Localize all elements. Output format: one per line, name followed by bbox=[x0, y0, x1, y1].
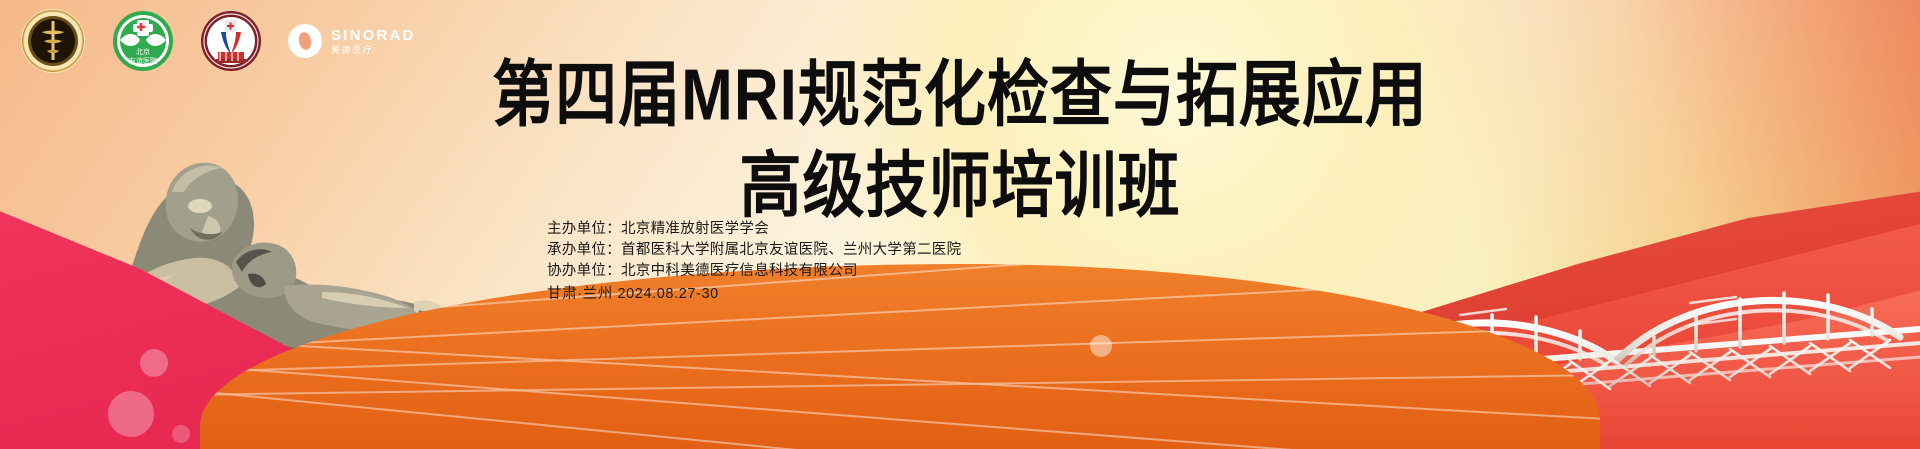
sinorad-brand-cn: 美德医疗 bbox=[331, 46, 416, 55]
decor-dot bbox=[140, 349, 168, 377]
lanzhou-university-second-hospital-logo bbox=[200, 10, 262, 72]
organizer-undertaker: 承办单位：首都医科大学附属北京友谊医院、兰州大学第二医院 bbox=[547, 240, 1007, 261]
organizer-block: 主办单位：北京精准放射医学学会 承办单位：首都医科大学附属北京友谊医院、兰州大学… bbox=[547, 219, 1007, 305]
logo-strip: 北京 友谊医院 SINORAD bbox=[20, 8, 416, 74]
organizer-host: 主办单位：北京精准放射医学学会 bbox=[547, 219, 1007, 240]
svg-text:友谊医院: 友谊医院 bbox=[129, 56, 157, 65]
organizer-coorganizer: 协办单位：北京中科美德医疗信息科技有限公司 bbox=[547, 261, 1007, 282]
sinorad-logo: SINORAD 美德医疗 bbox=[288, 24, 416, 58]
decor-dot bbox=[172, 425, 190, 443]
sinorad-eye-icon bbox=[288, 24, 322, 58]
decor-dot bbox=[108, 391, 154, 437]
conference-banner: 北京 友谊医院 SINORAD bbox=[0, 0, 1920, 449]
decor-dot bbox=[1090, 335, 1112, 357]
place-and-date: 甘肃·兰州 2024.08.27-30 bbox=[547, 284, 1007, 305]
sinorad-brand-en: SINORAD bbox=[331, 28, 416, 43]
svg-text:北京: 北京 bbox=[136, 47, 150, 56]
beijing-precision-radiology-society-logo bbox=[20, 8, 86, 74]
beijing-friendship-hospital-logo: 北京 友谊医院 bbox=[112, 10, 174, 72]
